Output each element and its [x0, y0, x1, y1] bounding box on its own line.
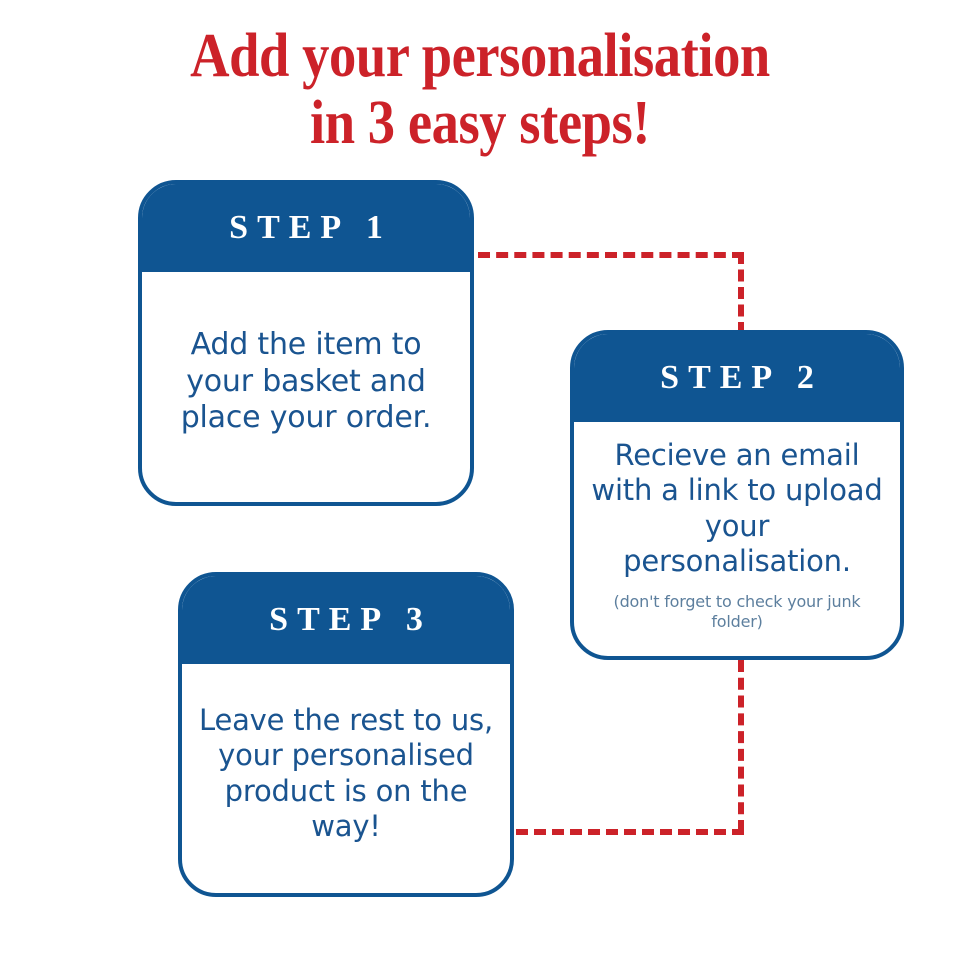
- step-card-1-header: STEP 1: [142, 184, 470, 272]
- page-title-line-1: Add your personalisation: [58, 24, 903, 89]
- step-card-1: STEP 1 Add the item to your basket and p…: [138, 180, 474, 506]
- step-card-3-body: Leave the rest to us, your personalised …: [182, 664, 510, 893]
- connector-step1-to-step2-horizontal: [478, 252, 744, 258]
- infographic-canvas: Add your personalisation in 3 easy steps…: [0, 0, 960, 960]
- step-card-2-note: (don't forget to check your junk folder): [590, 592, 884, 632]
- step-card-2: STEP 2 Recieve an email with a link to u…: [570, 330, 904, 660]
- connector-step2-to-step3-horizontal: [516, 829, 744, 835]
- step-card-2-header: STEP 2: [574, 334, 900, 422]
- page-title: Add your personalisation in 3 easy steps…: [58, 24, 903, 156]
- connector-step1-to-step2-vertical: [738, 252, 744, 334]
- step-card-1-text: Add the item to your basket and place yo…: [158, 327, 454, 437]
- step-card-2-body: Recieve an email with a link to upload y…: [574, 422, 900, 656]
- step-card-3: STEP 3 Leave the rest to us, your person…: [178, 572, 514, 897]
- step-card-2-text: Recieve an email with a link to upload y…: [590, 438, 884, 580]
- connector-step2-to-step3-vertical: [738, 660, 744, 832]
- step-card-3-header: STEP 3: [182, 576, 510, 664]
- page-title-line-2: in 3 easy steps!: [58, 91, 903, 156]
- step-card-3-text: Leave the rest to us, your personalised …: [198, 703, 494, 845]
- step-card-1-body: Add the item to your basket and place yo…: [142, 272, 470, 502]
